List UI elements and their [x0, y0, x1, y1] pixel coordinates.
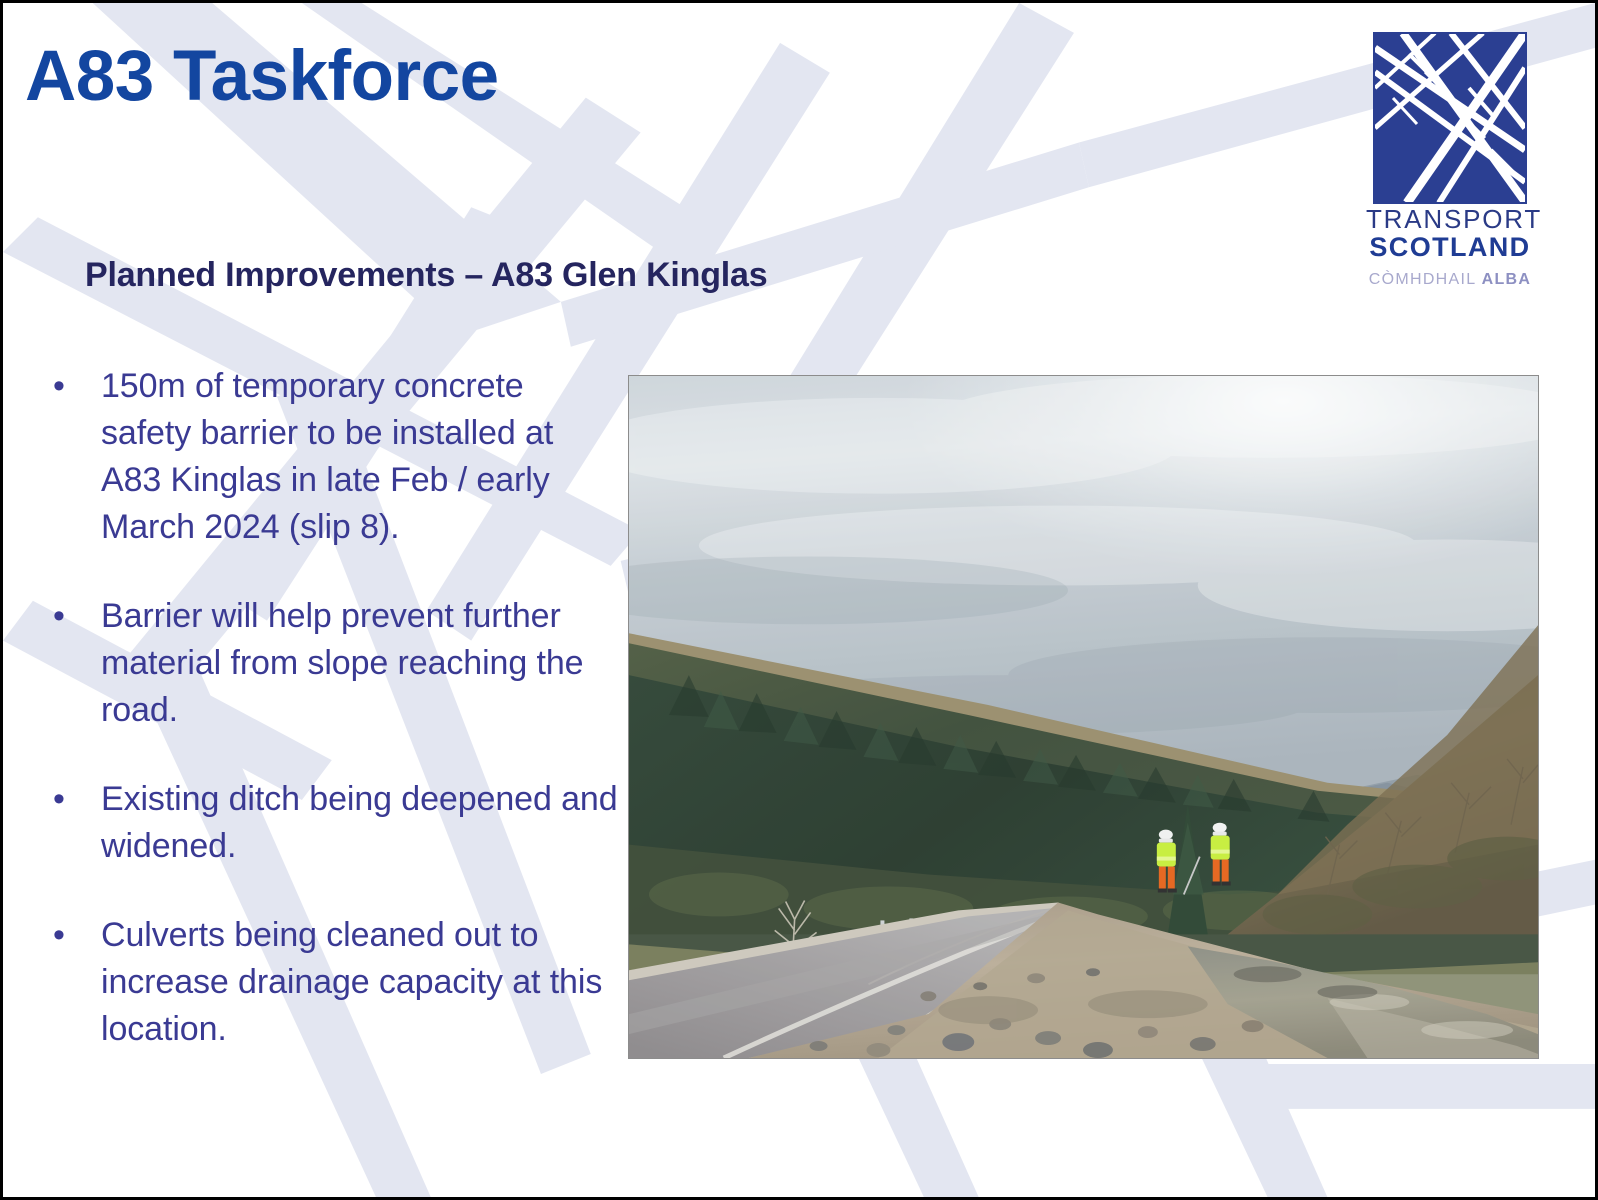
logo-gaelic-comhdhail: CÒMHDHAIL [1369, 271, 1476, 288]
bullet-dot-icon: • [43, 363, 101, 410]
bullet-text: Barrier will help prevent further materi… [101, 593, 618, 734]
bullet-text: 150m of temporary concrete safety barrie… [101, 363, 618, 551]
road-network-icon [1373, 32, 1527, 204]
logo-transport-text: TRANSPORT [1366, 206, 1534, 233]
bullet-text: Culverts being cleaned out to increase d… [101, 912, 618, 1053]
bullet-dot-icon: • [43, 776, 101, 823]
logo-gaelic-text: CÒMHDHAIL ALBA [1366, 271, 1534, 289]
bullet-dot-icon: • [43, 912, 101, 959]
list-item: • Culverts being cleaned out to increase… [43, 912, 618, 1053]
list-item: • 150m of temporary concrete safety barr… [43, 363, 618, 551]
logo-gaelic-alba: ALBA [1482, 271, 1532, 288]
bullet-list: • 150m of temporary concrete safety barr… [43, 363, 618, 1053]
bullet-dot-icon: • [43, 593, 101, 640]
list-item: • Existing ditch being deepened and wide… [43, 776, 618, 870]
page-title: A83 Taskforce [25, 41, 499, 112]
slide-a83-taskforce: A83 Taskforce Planned Improvements – A83… [0, 0, 1598, 1200]
bullet-text: Existing ditch being deepened and widene… [101, 776, 618, 870]
logo-scotland-text: SCOTLAND [1366, 233, 1534, 261]
list-item: • Barrier will help prevent further mate… [43, 593, 618, 734]
slide-subtitle: Planned Improvements – A83 Glen Kinglas [85, 256, 767, 295]
site-photograph: 4 [628, 375, 1539, 1059]
transport-scotland-logo: TRANSPORT SCOTLAND CÒMHDHAIL ALBA [1366, 32, 1534, 289]
